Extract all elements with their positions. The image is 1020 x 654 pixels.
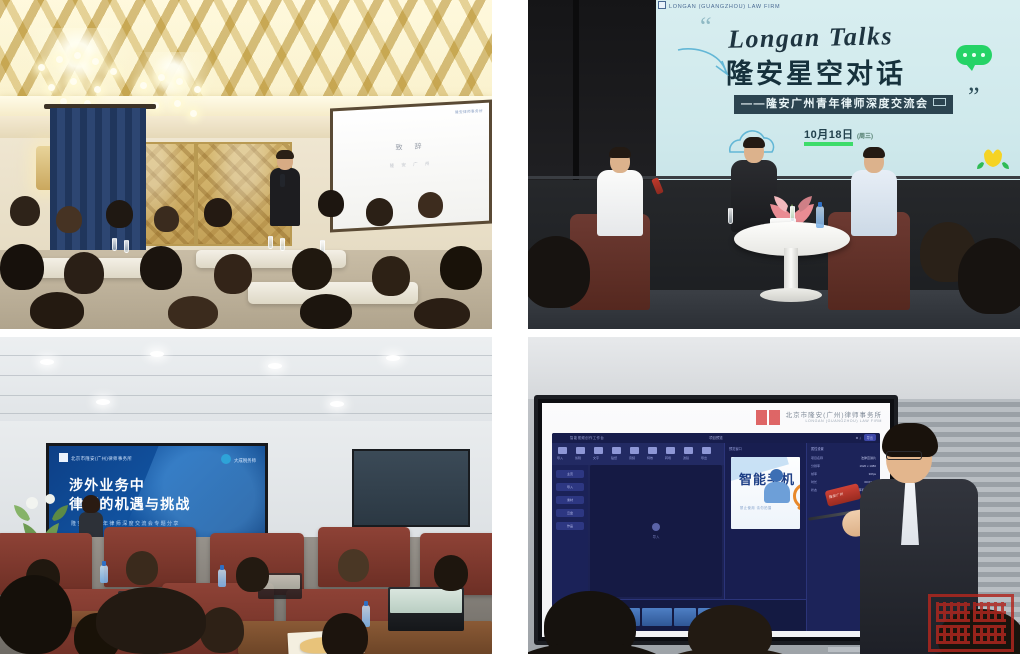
firm-seal-icon [756, 410, 780, 425]
left-pane-item: 导入 [556, 483, 584, 491]
foreground-audience-head [544, 591, 636, 654]
speaker-figure [268, 152, 302, 226]
photo-longan-talks-panel[interactable]: LONGAN (GUANGZHOU) LAW FIRM “ ” Longan T… [528, 0, 1020, 329]
audience-head [236, 557, 269, 592]
foreground-audience-head [96, 587, 206, 654]
foreground-audience-head [0, 575, 72, 654]
eyeglasses-icon [886, 451, 922, 460]
table-base [760, 288, 822, 302]
display-firm-header: 北京市隆安(广州)律师事务所 LONGAN (GUANGZHOU) LAW FI… [786, 409, 882, 423]
upper-wall [528, 337, 1020, 399]
audience-head [292, 248, 332, 290]
backdrop-date-note: (周三) [857, 134, 873, 140]
left-pane-item: 素材 [556, 496, 584, 504]
partner-mark-icon [221, 454, 231, 464]
screen-partner-logo: 大成税务师 [221, 454, 256, 464]
app-canvas[interactable]: 导入 [590, 465, 722, 597]
subtitle-end-icon [933, 98, 946, 106]
backdrop-date-text: 10月18日 [804, 129, 853, 146]
red-seal-watermark [928, 594, 1014, 652]
left-pane-item: 主页 [556, 470, 584, 478]
backdrop-subtitle-text: ——隆安广州青年律师深度交流会 [741, 98, 929, 110]
audience-head [300, 294, 352, 329]
audience-head [126, 551, 158, 585]
audience-head [0, 244, 44, 290]
audience-head [372, 256, 410, 296]
quote-open-mark: “ [700, 14, 712, 40]
screen-logo: 隆安律师事务所 [455, 109, 483, 116]
water-bottle [816, 206, 824, 228]
backdrop-date: 10月18日 (周三) [804, 126, 873, 142]
audience-head [440, 246, 482, 290]
person-illustration-icon [764, 469, 790, 503]
audience-head [366, 198, 393, 226]
tulip-doodle-icon [976, 142, 1010, 170]
office-seminar-scene: 北京市隆安(广州)律师事务所 大成税务师 涉外业务中 律师的机遇与挑战 隆安广州… [0, 337, 492, 654]
photo-banquet-hall-seminar[interactable]: 隆安律师事务所 致 辞 隆 安 广 州 [0, 0, 492, 329]
backdrop-title-english: Longan Talks [728, 19, 989, 54]
preview-slide: 智能手机 禁止使用 请勿拍摄 [731, 457, 800, 529]
backdrop-firm-line: LONGAN (GUANGZHOU) LAW FIRM [658, 1, 898, 10]
audience-head [154, 206, 179, 232]
firm-name-text: LONGAN (GUANGZHOU) LAW FIRM [669, 4, 780, 10]
canvas-placeholder: 导入 [652, 523, 660, 539]
screen-title: 致 辞 [396, 142, 427, 154]
curved-arrow-icon [676, 46, 734, 82]
audience-head [10, 196, 40, 226]
audience-head [140, 246, 182, 290]
photo-software-demo-presentation[interactable]: 北京市隆安(广州)律师事务所 LONGAN (GUANGZHOU) LAW FI… [528, 337, 1020, 654]
demo-presentation-scene: 北京市隆安(广州)律师事务所 LONGAN (GUANGZHOU) LAW FI… [528, 337, 1020, 654]
audience-head [106, 200, 133, 228]
audience-head [214, 254, 252, 294]
app-center-label: 项目预览 [709, 435, 723, 440]
panel-stage-scene: LONGAN (GUANGZHOU) LAW FIRM “ ” Longan T… [528, 0, 1020, 329]
left-pane-item: 云盘 [556, 509, 584, 517]
foreground-audience-head [528, 236, 590, 308]
backdrop-subtitle-bar: ——隆安广州青年律师深度交流会 [734, 95, 953, 114]
app-toolbar[interactable]: 导入 剪辑 文字 贴纸 音频 特效 转场 滤镜 导出 [552, 443, 724, 465]
firm-logo-icon [658, 1, 666, 9]
audience-head [64, 252, 104, 294]
water-bottle [218, 569, 226, 587]
banquet-hall-scene: 隆安律师事务所 致 辞 隆 安 广 州 [0, 0, 492, 329]
preview-panel-label: 预览窗口 [729, 446, 742, 451]
slide-subtext: 禁止使用 请勿拍摄 [740, 505, 772, 510]
photo-office-seminar-lecture[interactable]: 北京市隆安(广州)律师事务所 大成税务师 涉外业务中 律师的机遇与挑战 隆安广州… [0, 337, 492, 654]
photo-collage: 隆安律师事务所 致 辞 隆 安 广 州 [0, 0, 1020, 654]
audience-head [414, 298, 470, 329]
app-titlebar: 智能视频创作工作台 项目预览 ⚙ ⤓ 导出 [552, 433, 880, 443]
left-pane-item: 作品 [556, 522, 584, 530]
audience-head [338, 549, 369, 582]
foreground-audience-head [688, 605, 772, 654]
office-ceiling [0, 337, 492, 425]
audience-head [204, 198, 232, 227]
audience-head [30, 292, 84, 329]
audience-head [168, 296, 218, 329]
speech-bubble-icon [956, 45, 992, 65]
secondary-monitor [352, 449, 470, 527]
audience-head [56, 206, 82, 233]
water-bottle [100, 565, 108, 583]
app-window-title: 智能视频创作工作台 [570, 435, 604, 440]
properties-panel-label: 属性设置 [811, 446, 824, 451]
audience-head [318, 190, 344, 217]
firm-mark-icon [59, 453, 68, 462]
upload-icon [652, 523, 660, 531]
screen-firm-logo: 北京市隆安(广州)律师事务所 [59, 453, 132, 462]
audience-head [418, 192, 443, 218]
mic-flag-label: 隆安广州 [828, 491, 844, 499]
screen-subtitle: 隆 安 广 州 [390, 161, 433, 169]
audience-head [434, 555, 468, 591]
projection-screen: 隆安律师事务所 致 辞 隆 安 广 州 [330, 99, 492, 232]
audience-head [322, 613, 368, 654]
foreground-audience-head [958, 238, 1020, 314]
table-pedestal [784, 248, 798, 292]
